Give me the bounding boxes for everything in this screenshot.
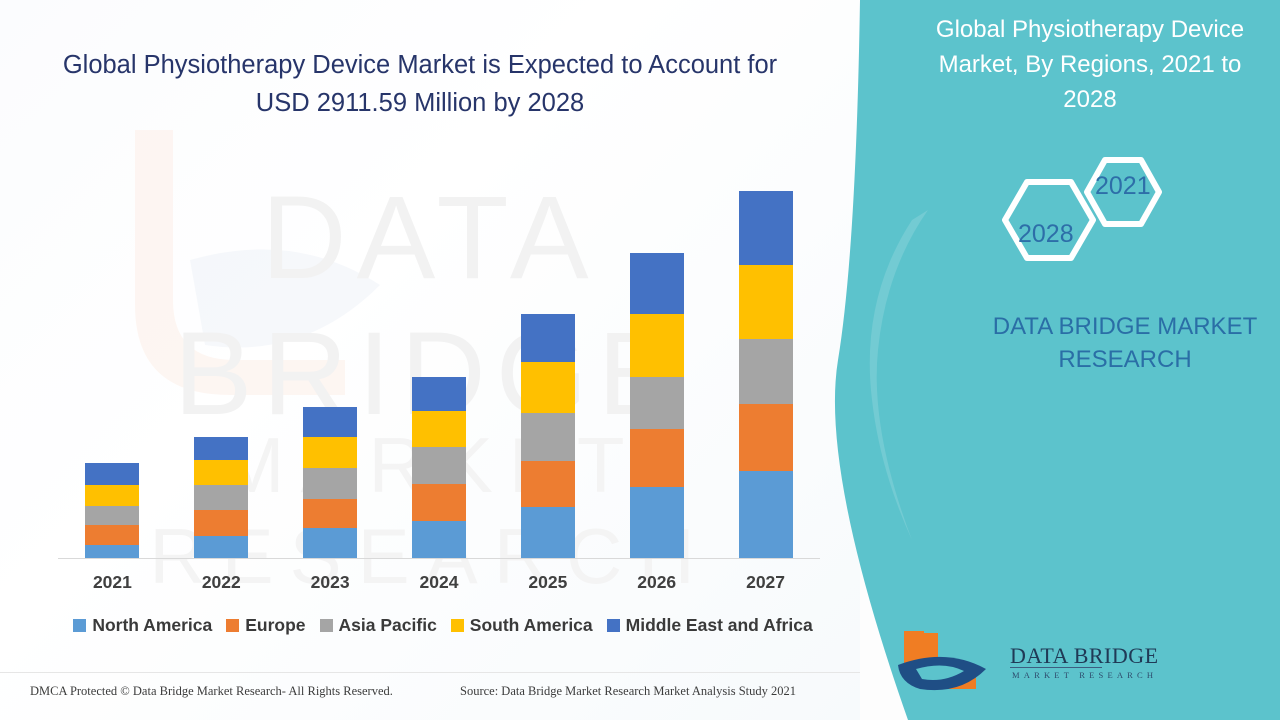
bar-segment[interactable] — [630, 253, 684, 314]
legend-label: Middle East and Africa — [626, 615, 813, 636]
bar-segment[interactable] — [739, 404, 793, 471]
chart-legend: North AmericaEuropeAsia PacificSouth Ame… — [58, 615, 828, 636]
legend-label: North America — [92, 615, 212, 636]
bar-segment[interactable] — [85, 545, 139, 558]
bar-stack-2024[interactable] — [412, 377, 466, 558]
legend-item[interactable]: North America — [73, 615, 212, 636]
bar-segment[interactable] — [194, 536, 248, 558]
bar-segment[interactable] — [85, 485, 139, 506]
x-tick-2023: 2023 — [285, 572, 375, 593]
legend-item[interactable]: Middle East and Africa — [607, 615, 813, 636]
bar-segment[interactable] — [521, 461, 575, 507]
bar-stack-2022[interactable] — [194, 437, 248, 558]
bar-segment[interactable] — [739, 471, 793, 558]
bar-segment[interactable] — [412, 377, 466, 411]
footer-source: Source: Data Bridge Market Research Mark… — [460, 684, 796, 699]
footer-copyright: DMCA Protected © Data Bridge Market Rese… — [30, 684, 393, 699]
logo-name: DATA BRIDGE — [1010, 643, 1159, 669]
bar-stack-2023[interactable] — [303, 407, 357, 558]
panel-title: Global Physiotherapy Device Market, By R… — [915, 12, 1265, 117]
x-tick-2025: 2025 — [503, 572, 593, 593]
legend-swatch — [451, 619, 464, 632]
bar-segment[interactable] — [85, 506, 139, 525]
hexagon-pair-graphic — [975, 150, 1195, 290]
bar-segment[interactable] — [739, 265, 793, 339]
bar-segment[interactable] — [85, 525, 139, 545]
bar-segment[interactable] — [412, 484, 466, 521]
x-tick-2026: 2026 — [612, 572, 702, 593]
bar-segment[interactable] — [412, 447, 466, 484]
bar-segment[interactable] — [630, 429, 684, 487]
bar-stack-2021[interactable] — [85, 463, 139, 558]
x-tick-2024: 2024 — [394, 572, 484, 593]
bar-segment[interactable] — [412, 521, 466, 558]
legend-label: South America — [470, 615, 593, 636]
bar-segment[interactable] — [412, 411, 466, 447]
bar-segment[interactable] — [194, 510, 248, 536]
logo-divider — [1010, 667, 1102, 668]
bar-segment[interactable] — [303, 407, 357, 437]
bar-segment[interactable] — [194, 437, 248, 460]
legend-item[interactable]: Asia Pacific — [320, 615, 437, 636]
legend-label: Asia Pacific — [339, 615, 437, 636]
legend-swatch — [607, 619, 620, 632]
legend-label: Europe — [245, 615, 305, 636]
bar-segment[interactable] — [303, 437, 357, 468]
logo-subtitle: MARKET RESEARCH — [1012, 670, 1157, 680]
legend-swatch — [73, 619, 86, 632]
bar-stack-2027[interactable] — [739, 191, 793, 558]
x-tick-2021: 2021 — [67, 572, 157, 593]
bar-segment[interactable] — [194, 485, 248, 510]
bar-segment[interactable] — [303, 468, 357, 499]
legend-item[interactable]: Europe — [226, 615, 305, 636]
legend-item[interactable]: South America — [451, 615, 593, 636]
x-tick-2022: 2022 — [176, 572, 266, 593]
hexagon-2021-label: 2021 — [1095, 172, 1151, 201]
bar-segment[interactable] — [521, 314, 575, 362]
hexagon-2028-label: 2028 — [1018, 220, 1074, 249]
footer-divider — [0, 672, 860, 673]
bar-segment[interactable] — [521, 507, 575, 558]
x-axis-tick-labels: 2021202220232024202520262027 — [58, 572, 820, 602]
bar-segment[interactable] — [739, 191, 793, 265]
bar-segment[interactable] — [739, 339, 793, 404]
x-axis-line — [58, 558, 820, 559]
bar-segment[interactable] — [85, 463, 139, 485]
bar-stack-2025[interactable] — [521, 314, 575, 558]
bar-segment[interactable] — [630, 487, 684, 558]
x-tick-2027: 2027 — [721, 572, 811, 593]
bar-segment[interactable] — [521, 362, 575, 413]
bar-segment[interactable] — [303, 499, 357, 528]
legend-swatch — [320, 619, 333, 632]
bar-segment[interactable] — [521, 413, 575, 461]
panel-brand-text: DATA BRIDGE MARKET RESEARCH — [975, 310, 1275, 376]
stacked-bar-chart: 2021202220232024202520262027 North Ameri… — [0, 0, 860, 720]
bar-stack-2026[interactable] — [630, 253, 684, 558]
infographic-canvas: DATA BRIDGE MARKET RESEARCH Global Physi… — [0, 0, 1280, 720]
bar-segment[interactable] — [630, 377, 684, 429]
bar-segment[interactable] — [630, 314, 684, 377]
bar-segment[interactable] — [194, 460, 248, 485]
bar-segment[interactable] — [303, 528, 357, 558]
legend-swatch — [226, 619, 239, 632]
